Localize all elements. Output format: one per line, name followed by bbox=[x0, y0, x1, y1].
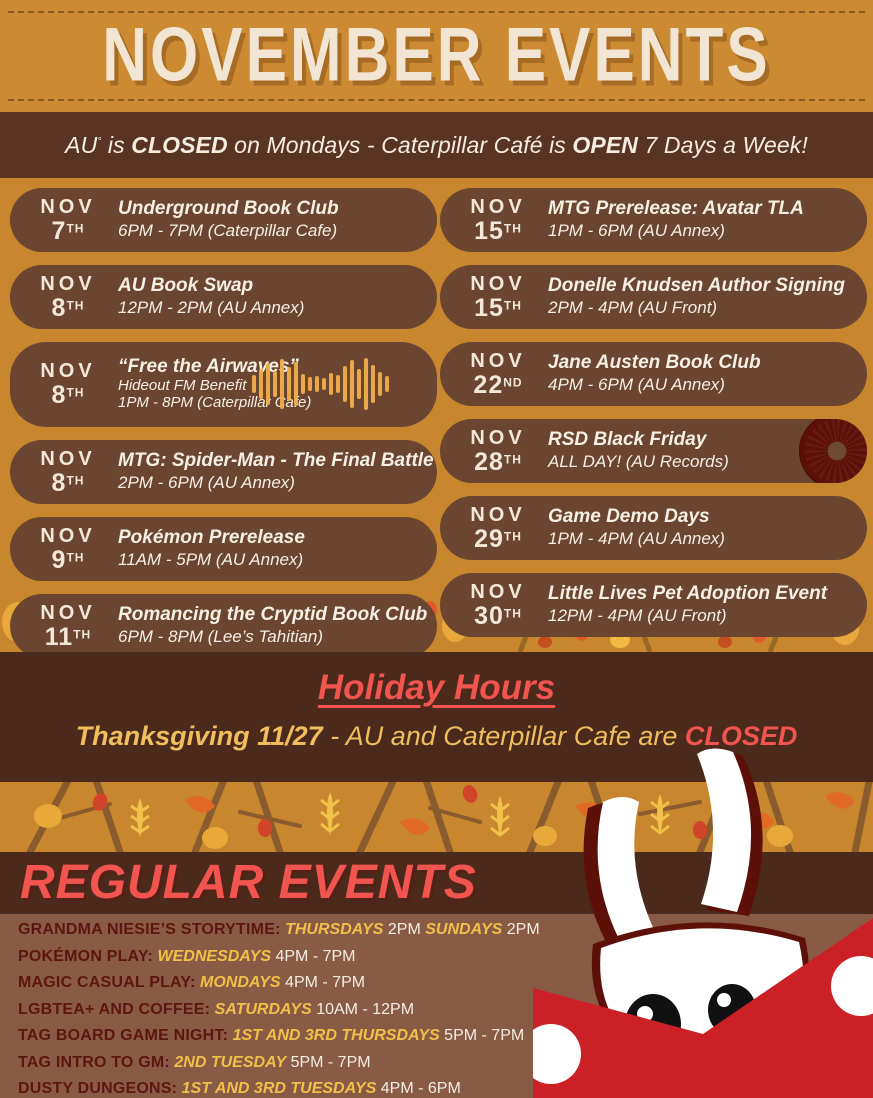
event-info: Game Demo Days1PM - 4PM (AU Annex) bbox=[542, 507, 867, 548]
regular-event-time-2: 2PM bbox=[507, 921, 540, 938]
page-title: NOVEMBER EVENTS bbox=[102, 18, 771, 94]
event-card[interactable]: NOV15THDonelle Knudsen Author Signing2PM… bbox=[440, 265, 867, 329]
autumn-leaves-strip-bottom bbox=[0, 782, 873, 852]
holiday-mid-text: - AU and Caterpillar Cafe are bbox=[323, 721, 685, 751]
event-day-ordinal: TH bbox=[504, 298, 522, 312]
event-day: 7 bbox=[52, 217, 67, 245]
event-day-ordinal: TH bbox=[66, 550, 84, 564]
regular-event-day: WEDNESDAYS bbox=[158, 948, 272, 965]
event-name: Little Lives Pet Adoption Event bbox=[548, 584, 867, 605]
event-day: 15 bbox=[474, 217, 504, 245]
regular-event-day: SATURDAYS bbox=[215, 1001, 312, 1018]
event-date: NOV11TH bbox=[24, 603, 112, 650]
event-card[interactable]: NOV15THMTG Prerelease: Avatar TLA1PM - 6… bbox=[440, 188, 867, 252]
event-day-wrap: 30TH bbox=[454, 604, 542, 629]
holiday-hours-section: Holiday Hours Thanksgiving 11/27 - AU an… bbox=[0, 652, 873, 782]
event-name: MTG: Spider-Man - The Final Battle bbox=[118, 451, 437, 472]
event-card[interactable]: NOV7THUnderground Book Club6PM - 7PM (Ca… bbox=[10, 188, 437, 252]
regular-event-name: TAG INTRO TO GM: bbox=[18, 1054, 170, 1071]
event-day: 29 bbox=[474, 525, 504, 553]
event-day-ordinal: TH bbox=[504, 529, 522, 543]
event-day: 9 bbox=[52, 546, 67, 574]
event-name: Romancing the Cryptid Book Club bbox=[118, 605, 437, 626]
events-column-left: NOV7THUnderground Book Club6PM - 7PM (Ca… bbox=[10, 188, 437, 671]
event-day-ordinal: TH bbox=[504, 452, 522, 466]
regular-event-day-2: SUNDAYS bbox=[425, 921, 502, 938]
event-day: 8 bbox=[52, 381, 67, 409]
thanksgiving-date: Thanksgiving 11/27 bbox=[76, 721, 323, 751]
banner-open-word: OPEN bbox=[572, 132, 638, 158]
event-name: Pokémon Prerelease bbox=[118, 528, 437, 549]
regular-event-row: MAGIC CASUAL PLAY: MONDAYS 4PM - 7PM bbox=[18, 975, 678, 991]
event-day-ordinal: TH bbox=[504, 606, 522, 620]
autumn-branches-pattern-icon bbox=[0, 782, 873, 852]
regular-event-time: 4PM - 7PM bbox=[285, 974, 365, 991]
event-time-location: 12PM - 2PM (AU Annex) bbox=[118, 298, 437, 318]
event-month: NOV bbox=[24, 526, 112, 546]
event-day: 28 bbox=[474, 448, 504, 476]
event-day-ordinal: TH bbox=[66, 386, 84, 400]
november-events-poster: NOVEMBER EVENTS AU° is CLOSED on Mondays… bbox=[0, 0, 873, 1098]
event-day-wrap: 8TH bbox=[24, 471, 112, 496]
regular-event-day: MONDAYS bbox=[200, 974, 281, 991]
header-dashed-line-bottom bbox=[8, 99, 865, 101]
event-day: 30 bbox=[474, 602, 504, 630]
banner-closed-word: CLOSED bbox=[131, 132, 227, 158]
event-card[interactable]: NOV22NDJane Austen Book Club4PM - 6PM (A… bbox=[440, 342, 867, 406]
regular-event-row: TAG INTRO TO GM: 2ND TUESDAY 5PM - 7PM bbox=[18, 1055, 678, 1071]
event-card[interactable]: NOV11THRomancing the Cryptid Book Club6P… bbox=[10, 594, 437, 658]
event-info: MTG: Spider-Man - The Final Battle2PM - … bbox=[112, 451, 437, 492]
event-card[interactable]: NOV8THMTG: Spider-Man - The Final Battle… bbox=[10, 440, 437, 504]
event-time-location: 12PM - 4PM (AU Front) bbox=[548, 606, 867, 626]
event-card[interactable]: NOV8TH“Free the Airwaves”Hideout FM Bene… bbox=[10, 342, 437, 427]
event-day-wrap: 7TH bbox=[24, 219, 112, 244]
event-card[interactable]: NOV9THPokémon Prerelease11AM - 5PM (AU A… bbox=[10, 517, 437, 581]
event-day-ordinal: ND bbox=[503, 375, 522, 389]
event-date: NOV9TH bbox=[24, 526, 112, 573]
holiday-closed-badge: CLOSED bbox=[685, 721, 798, 751]
event-day: 8 bbox=[52, 294, 67, 322]
event-day-wrap: 29TH bbox=[454, 527, 542, 552]
regular-event-row: POKÉMON PLAY: WEDNESDAYS 4PM - 7PM bbox=[18, 949, 678, 965]
regular-event-day: 1ST AND 3RD TUESDAYS bbox=[182, 1080, 377, 1097]
event-date: NOV22ND bbox=[454, 351, 542, 398]
event-time-location: 1PM - 4PM (AU Annex) bbox=[548, 529, 867, 549]
event-day-wrap: 15TH bbox=[454, 219, 542, 244]
event-month: NOV bbox=[24, 449, 112, 469]
regular-event-time: 4PM - 7PM bbox=[275, 948, 355, 965]
event-info: Little Lives Pet Adoption Event12PM - 4P… bbox=[542, 584, 867, 625]
event-name: AU Book Swap bbox=[118, 276, 437, 297]
regular-event-time: 4PM - 6PM bbox=[381, 1080, 461, 1097]
event-month: NOV bbox=[24, 603, 112, 623]
event-day-wrap: 8TH bbox=[24, 296, 112, 321]
regular-event-day: 2ND TUESDAY bbox=[174, 1054, 286, 1071]
event-day: 22 bbox=[473, 371, 503, 399]
regular-event-name: LGBTEA+ AND COFFEE: bbox=[18, 1001, 210, 1018]
event-info: Jane Austen Book Club4PM - 6PM (AU Annex… bbox=[542, 353, 867, 394]
event-name: Underground Book Club bbox=[118, 199, 437, 220]
event-month: NOV bbox=[454, 197, 542, 217]
regular-events-section: REGULAR EVENTS GRANDMA NIESIE’S STORYTIM… bbox=[0, 852, 873, 1098]
events-section: NOV7THUnderground Book Club6PM - 7PM (Ca… bbox=[0, 178, 873, 652]
regular-event-row: DUSTY DUNGEONS: 1ST AND 3RD TUESDAYS 4PM… bbox=[18, 1081, 678, 1097]
store-hours-text: AU° is CLOSED on Mondays - Caterpillar C… bbox=[65, 132, 808, 159]
regular-event-time: 5PM - 7PM bbox=[291, 1054, 371, 1071]
regular-event-row: LGBTEA+ AND COFFEE: SATURDAYS 10AM - 12P… bbox=[18, 1002, 678, 1018]
event-day-ordinal: TH bbox=[66, 221, 84, 235]
event-time-location: 11AM - 5PM (AU Annex) bbox=[118, 550, 437, 570]
banner-au-label: AU bbox=[65, 132, 97, 158]
event-date: NOV8TH bbox=[24, 274, 112, 321]
event-time-location: 2PM - 4PM (AU Front) bbox=[548, 298, 867, 318]
event-day: 15 bbox=[474, 294, 504, 322]
event-date: NOV29TH bbox=[454, 505, 542, 552]
event-time-location: 6PM - 7PM (Caterpillar Cafe) bbox=[118, 221, 437, 241]
regular-event-name: POKÉMON PLAY: bbox=[18, 948, 153, 965]
event-day-wrap: 11TH bbox=[24, 625, 112, 650]
event-date: NOV15TH bbox=[454, 197, 542, 244]
event-day-ordinal: TH bbox=[66, 298, 84, 312]
holiday-hours-detail: Thanksgiving 11/27 - AU and Caterpillar … bbox=[0, 720, 873, 752]
event-month: NOV bbox=[454, 428, 542, 448]
event-day: 8 bbox=[52, 469, 67, 497]
event-day-wrap: 22ND bbox=[454, 373, 542, 398]
event-day-wrap: 28TH bbox=[454, 450, 542, 475]
event-day-ordinal: TH bbox=[504, 221, 522, 235]
event-info: Romancing the Cryptid Book Club6PM - 8PM… bbox=[112, 605, 437, 646]
event-time-location: 4PM - 6PM (AU Annex) bbox=[548, 375, 867, 395]
regular-event-row: GRANDMA NIESIE’S STORYTIME: THURSDAYS 2P… bbox=[18, 922, 678, 938]
event-month: NOV bbox=[454, 582, 542, 602]
event-day: 11 bbox=[45, 623, 73, 651]
event-name: Game Demo Days bbox=[548, 507, 867, 528]
event-month: NOV bbox=[454, 351, 542, 371]
event-month: NOV bbox=[24, 361, 112, 381]
audio-waveform-icon bbox=[252, 354, 389, 414]
events-column-right: NOV15THMTG Prerelease: Avatar TLA1PM - 6… bbox=[440, 188, 867, 650]
event-info: MTG Prerelease: Avatar TLA1PM - 6PM (AU … bbox=[542, 199, 867, 240]
regular-events-list: GRANDMA NIESIE’S STORYTIME: THURSDAYS 2P… bbox=[18, 922, 678, 1098]
regular-events-title: REGULAR EVENTS bbox=[0, 859, 477, 907]
poster-header: NOVEMBER EVENTS bbox=[0, 0, 873, 112]
event-day-wrap: 8TH bbox=[24, 383, 112, 408]
event-card[interactable]: NOV30THLittle Lives Pet Adoption Event12… bbox=[440, 573, 867, 637]
holiday-hours-title: Holiday Hours bbox=[0, 666, 873, 710]
store-hours-banner: AU° is CLOSED on Mondays - Caterpillar C… bbox=[0, 112, 873, 178]
regular-events-header: REGULAR EVENTS bbox=[0, 852, 873, 914]
banner-mid2: on Mondays - Caterpillar Café is bbox=[228, 132, 573, 158]
event-card[interactable]: NOV8THAU Book Swap12PM - 2PM (AU Annex) bbox=[10, 265, 437, 329]
event-card[interactable]: NOV29THGame Demo Days1PM - 4PM (AU Annex… bbox=[440, 496, 867, 560]
event-name: MTG Prerelease: Avatar TLA bbox=[548, 199, 867, 220]
event-date: NOV8TH bbox=[24, 361, 112, 408]
event-date: NOV28TH bbox=[454, 428, 542, 475]
regular-event-name: DUSTY DUNGEONS: bbox=[18, 1080, 177, 1097]
event-month: NOV bbox=[24, 197, 112, 217]
banner-mid1: is bbox=[101, 132, 131, 158]
vinyl-record-icon bbox=[799, 419, 867, 483]
event-info: Donelle Knudsen Author Signing2PM - 4PM … bbox=[542, 276, 867, 317]
regular-event-time: 2PM bbox=[388, 921, 421, 938]
event-info: Underground Book Club6PM - 7PM (Caterpil… bbox=[112, 199, 437, 240]
event-name: Jane Austen Book Club bbox=[548, 353, 867, 374]
regular-event-day: THURSDAYS bbox=[285, 921, 383, 938]
event-card[interactable]: NOV28THRSD Black FridayALL DAY! (AU Reco… bbox=[440, 419, 867, 483]
event-date: NOV8TH bbox=[24, 449, 112, 496]
event-time-location: 2PM - 6PM (AU Annex) bbox=[118, 473, 437, 493]
regular-event-day: 1ST AND 3RD THURSDAYS bbox=[233, 1027, 440, 1044]
event-info: Pokémon Prerelease11AM - 5PM (AU Annex) bbox=[112, 528, 437, 569]
regular-event-time: 10AM - 12PM bbox=[316, 1001, 414, 1018]
event-day-ordinal: TH bbox=[66, 473, 84, 487]
event-month: NOV bbox=[454, 505, 542, 525]
regular-event-row: TAG BOARD GAME NIGHT: 1ST AND 3RD THURSD… bbox=[18, 1028, 678, 1044]
event-name: Donelle Knudsen Author Signing bbox=[548, 276, 867, 297]
event-day-wrap: 9TH bbox=[24, 548, 112, 573]
event-day-ordinal: TH bbox=[73, 627, 91, 641]
event-month: NOV bbox=[454, 274, 542, 294]
regular-event-name: MAGIC CASUAL PLAY: bbox=[18, 974, 196, 991]
event-date: NOV15TH bbox=[454, 274, 542, 321]
event-date: NOV30TH bbox=[454, 582, 542, 629]
event-time-location: 1PM - 6PM (AU Annex) bbox=[548, 221, 867, 241]
regular-event-name: TAG BOARD GAME NIGHT: bbox=[18, 1027, 228, 1044]
event-month: NOV bbox=[24, 274, 112, 294]
event-date: NOV7TH bbox=[24, 197, 112, 244]
event-info: AU Book Swap12PM - 2PM (AU Annex) bbox=[112, 276, 437, 317]
event-time-location: 6PM - 8PM (Lee’s Tahitian) bbox=[118, 627, 437, 647]
banner-mid3: 7 Days a Week! bbox=[638, 132, 808, 158]
regular-event-name: GRANDMA NIESIE’S STORYTIME: bbox=[18, 921, 281, 938]
event-day-wrap: 15TH bbox=[454, 296, 542, 321]
regular-event-time: 5PM - 7PM bbox=[444, 1027, 524, 1044]
